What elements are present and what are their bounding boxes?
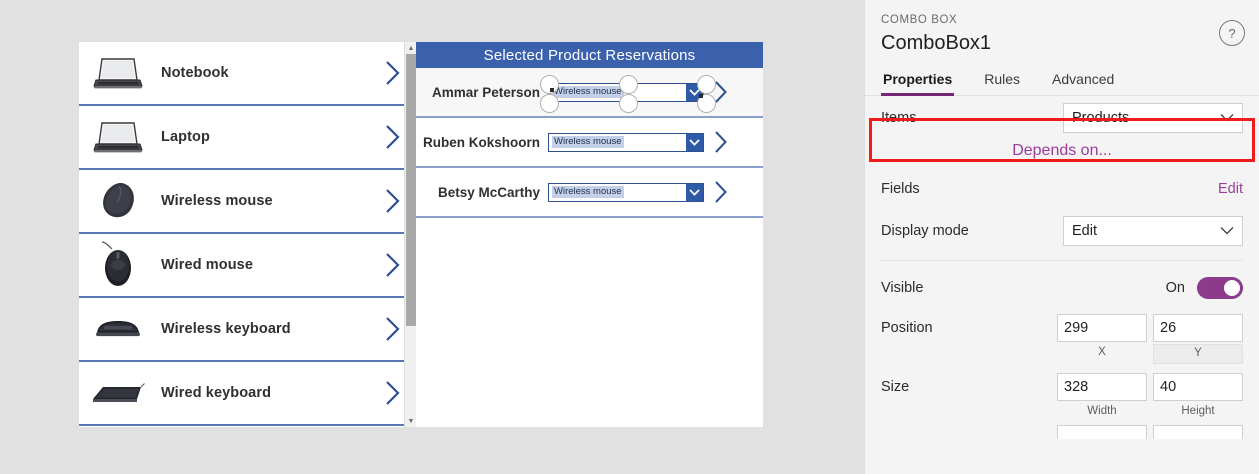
visible-toggle[interactable] (1197, 277, 1243, 299)
tab-advanced[interactable]: Advanced (1050, 69, 1116, 95)
visible-toggle-wrap: On (1166, 277, 1243, 299)
chevron-down-icon (1220, 227, 1234, 236)
laptop-thumb (89, 111, 147, 163)
wired-mouse-thumb (89, 239, 147, 291)
gallery-item-notebook[interactable]: Notebook (79, 42, 416, 106)
reservation-person-name: Betsy McCarthy (416, 185, 548, 200)
combobox-selected-value: Wireless mouse (552, 186, 624, 198)
size-captions: Width Height (865, 403, 1259, 421)
reservations-header: Selected Product Reservations (416, 42, 763, 68)
chevron-right-icon[interactable] (384, 60, 402, 86)
control-name-title: ComboBox1 (881, 32, 1243, 55)
visible-toggle-state: On (1166, 280, 1185, 296)
tab-properties[interactable]: Properties (881, 69, 954, 95)
property-row-position: Position 299 26 (865, 309, 1259, 347)
size-height-input[interactable]: 40 (1153, 373, 1243, 401)
depends-on-row: Depends on... (865, 140, 1259, 168)
position-inputs: 299 26 (1057, 314, 1243, 342)
chevron-right-icon[interactable] (384, 252, 402, 278)
reservation-row[interactable]: Ruben KokshoornWireless mouse (416, 118, 763, 168)
resize-handle-bottom-center[interactable] (619, 94, 638, 113)
combobox-dropdown-button[interactable] (686, 184, 703, 201)
chevron-right-icon[interactable] (384, 124, 402, 150)
reservations-rows: Ammar PetersonWireless mouseRuben Koksho… (416, 68, 763, 218)
chevron-right-icon[interactable] (713, 180, 729, 204)
resize-handle-top-center[interactable] (619, 75, 638, 94)
chevron-right-icon[interactable] (384, 316, 402, 342)
combobox-selected-value: Wireless mouse (552, 86, 624, 98)
chevron-right-icon[interactable] (713, 130, 729, 154)
combobox-dropdown-button[interactable] (686, 134, 703, 151)
property-row-items: Items Products (865, 96, 1259, 140)
position-y-caption: Y (1153, 344, 1243, 364)
gallery-item-label: Laptop (161, 129, 210, 145)
product-combobox[interactable]: Wireless mouse (548, 133, 704, 152)
combobox-value-area[interactable]: Wireless mouse (549, 84, 686, 101)
properties-panel: COMBO BOX ComboBox1 ? PropertiesRulesAdv… (864, 0, 1259, 474)
gallery-scrollbar[interactable]: ▲ ▼ (404, 42, 416, 427)
display-mode-label: Display mode (881, 223, 1063, 239)
wireless-mouse-thumb (89, 175, 147, 227)
product-gallery: NotebookLaptopWireless mouseWired mouseW… (79, 42, 416, 427)
gallery-item-label: Wireless keyboard (161, 321, 291, 337)
selection-anchor-dot (550, 88, 554, 92)
wired-keyboard-thumb (89, 367, 147, 419)
fields-label: Fields (881, 181, 1218, 197)
property-row-display-mode: Display mode Edit (865, 210, 1259, 252)
reservations-panel: Selected Product Reservations Ammar Pete… (416, 42, 763, 427)
selection-anchor-dot (699, 94, 703, 98)
combobox-selected-value: Wireless mouse (552, 136, 624, 148)
combobox-value-area[interactable]: Wireless mouse (549, 134, 686, 151)
chevron-right-icon[interactable] (384, 380, 402, 406)
position-y-input[interactable]: 26 (1153, 314, 1243, 342)
reservation-person-name: Ruben Kokshoorn (416, 135, 548, 150)
position-x-input[interactable]: 299 (1057, 314, 1147, 342)
control-type-label: COMBO BOX (881, 14, 1243, 26)
size-width-caption: Width (1057, 403, 1147, 421)
gallery-item-label: Wireless mouse (161, 193, 273, 209)
items-label: Items (881, 110, 1063, 126)
property-row-visible: Visible On (865, 267, 1259, 309)
gallery-item-label: Wired mouse (161, 257, 253, 273)
reservation-row[interactable]: Ammar PetersonWireless mouse (416, 68, 763, 118)
gallery-item-label: Wired keyboard (161, 385, 271, 401)
tab-rules[interactable]: Rules (982, 69, 1022, 95)
size-width-input[interactable]: 328 (1057, 373, 1147, 401)
gallery-item-laptop[interactable]: Laptop (79, 106, 416, 170)
position-label: Position (881, 320, 1057, 336)
gallery-scrollbar-thumb[interactable] (406, 54, 416, 326)
position-x-caption: X (1057, 344, 1147, 364)
wireless-keyboard-thumb (89, 303, 147, 355)
visible-label: Visible (881, 280, 1166, 296)
app-root: NotebookLaptopWireless mouseWired mouseW… (0, 0, 1259, 474)
next-input-right[interactable] (1153, 425, 1243, 439)
gallery-item-label: Notebook (161, 65, 229, 81)
properties-tabs: PropertiesRulesAdvanced (865, 69, 1259, 96)
property-row-fields: Fields Edit (865, 168, 1259, 210)
items-select-value: Products (1072, 110, 1129, 126)
display-mode-select[interactable]: Edit (1063, 216, 1243, 246)
size-inputs: 328 40 (1057, 373, 1243, 401)
display-mode-value: Edit (1072, 223, 1097, 239)
gallery-item-wireless-keyboard[interactable]: Wireless keyboard (79, 298, 416, 362)
reservation-person-name: Ammar Peterson (416, 85, 548, 100)
section-divider (881, 260, 1243, 261)
combobox-value-area[interactable]: Wireless mouse (549, 184, 686, 201)
fields-edit-link[interactable]: Edit (1218, 181, 1243, 197)
gallery-item-wired-keyboard[interactable]: Wired keyboard (79, 362, 416, 426)
chevron-down-icon (1220, 114, 1234, 123)
laptop-thumb (89, 47, 147, 99)
app-canvas: NotebookLaptopWireless mouseWired mouseW… (0, 0, 864, 474)
size-height-caption: Height (1153, 403, 1243, 421)
size-label: Size (881, 379, 1057, 395)
next-input-left[interactable] (1057, 425, 1147, 439)
position-captions: X Y (865, 344, 1259, 364)
gallery-item-wireless-mouse[interactable]: Wireless mouse (79, 170, 416, 234)
chevron-right-icon[interactable] (384, 188, 402, 214)
toggle-knob (1224, 280, 1240, 296)
items-select[interactable]: Products (1063, 103, 1243, 133)
resize-handle-bottom-left[interactable] (540, 94, 559, 113)
product-combobox[interactable]: Wireless mouse (548, 83, 704, 102)
properties-header: COMBO BOX ComboBox1 ? (865, 0, 1259, 55)
help-icon[interactable]: ? (1219, 20, 1245, 46)
product-combobox[interactable]: Wireless mouse (548, 183, 704, 202)
property-row-size: Size 328 40 (865, 368, 1259, 406)
resize-handle-top-right[interactable] (697, 75, 716, 94)
depends-on-link[interactable]: Depends on... (1012, 142, 1112, 160)
reservation-row[interactable]: Betsy McCarthyWireless mouse (416, 168, 763, 218)
next-property-row-partial (865, 425, 1259, 439)
gallery-item-wired-mouse[interactable]: Wired mouse (79, 234, 416, 298)
